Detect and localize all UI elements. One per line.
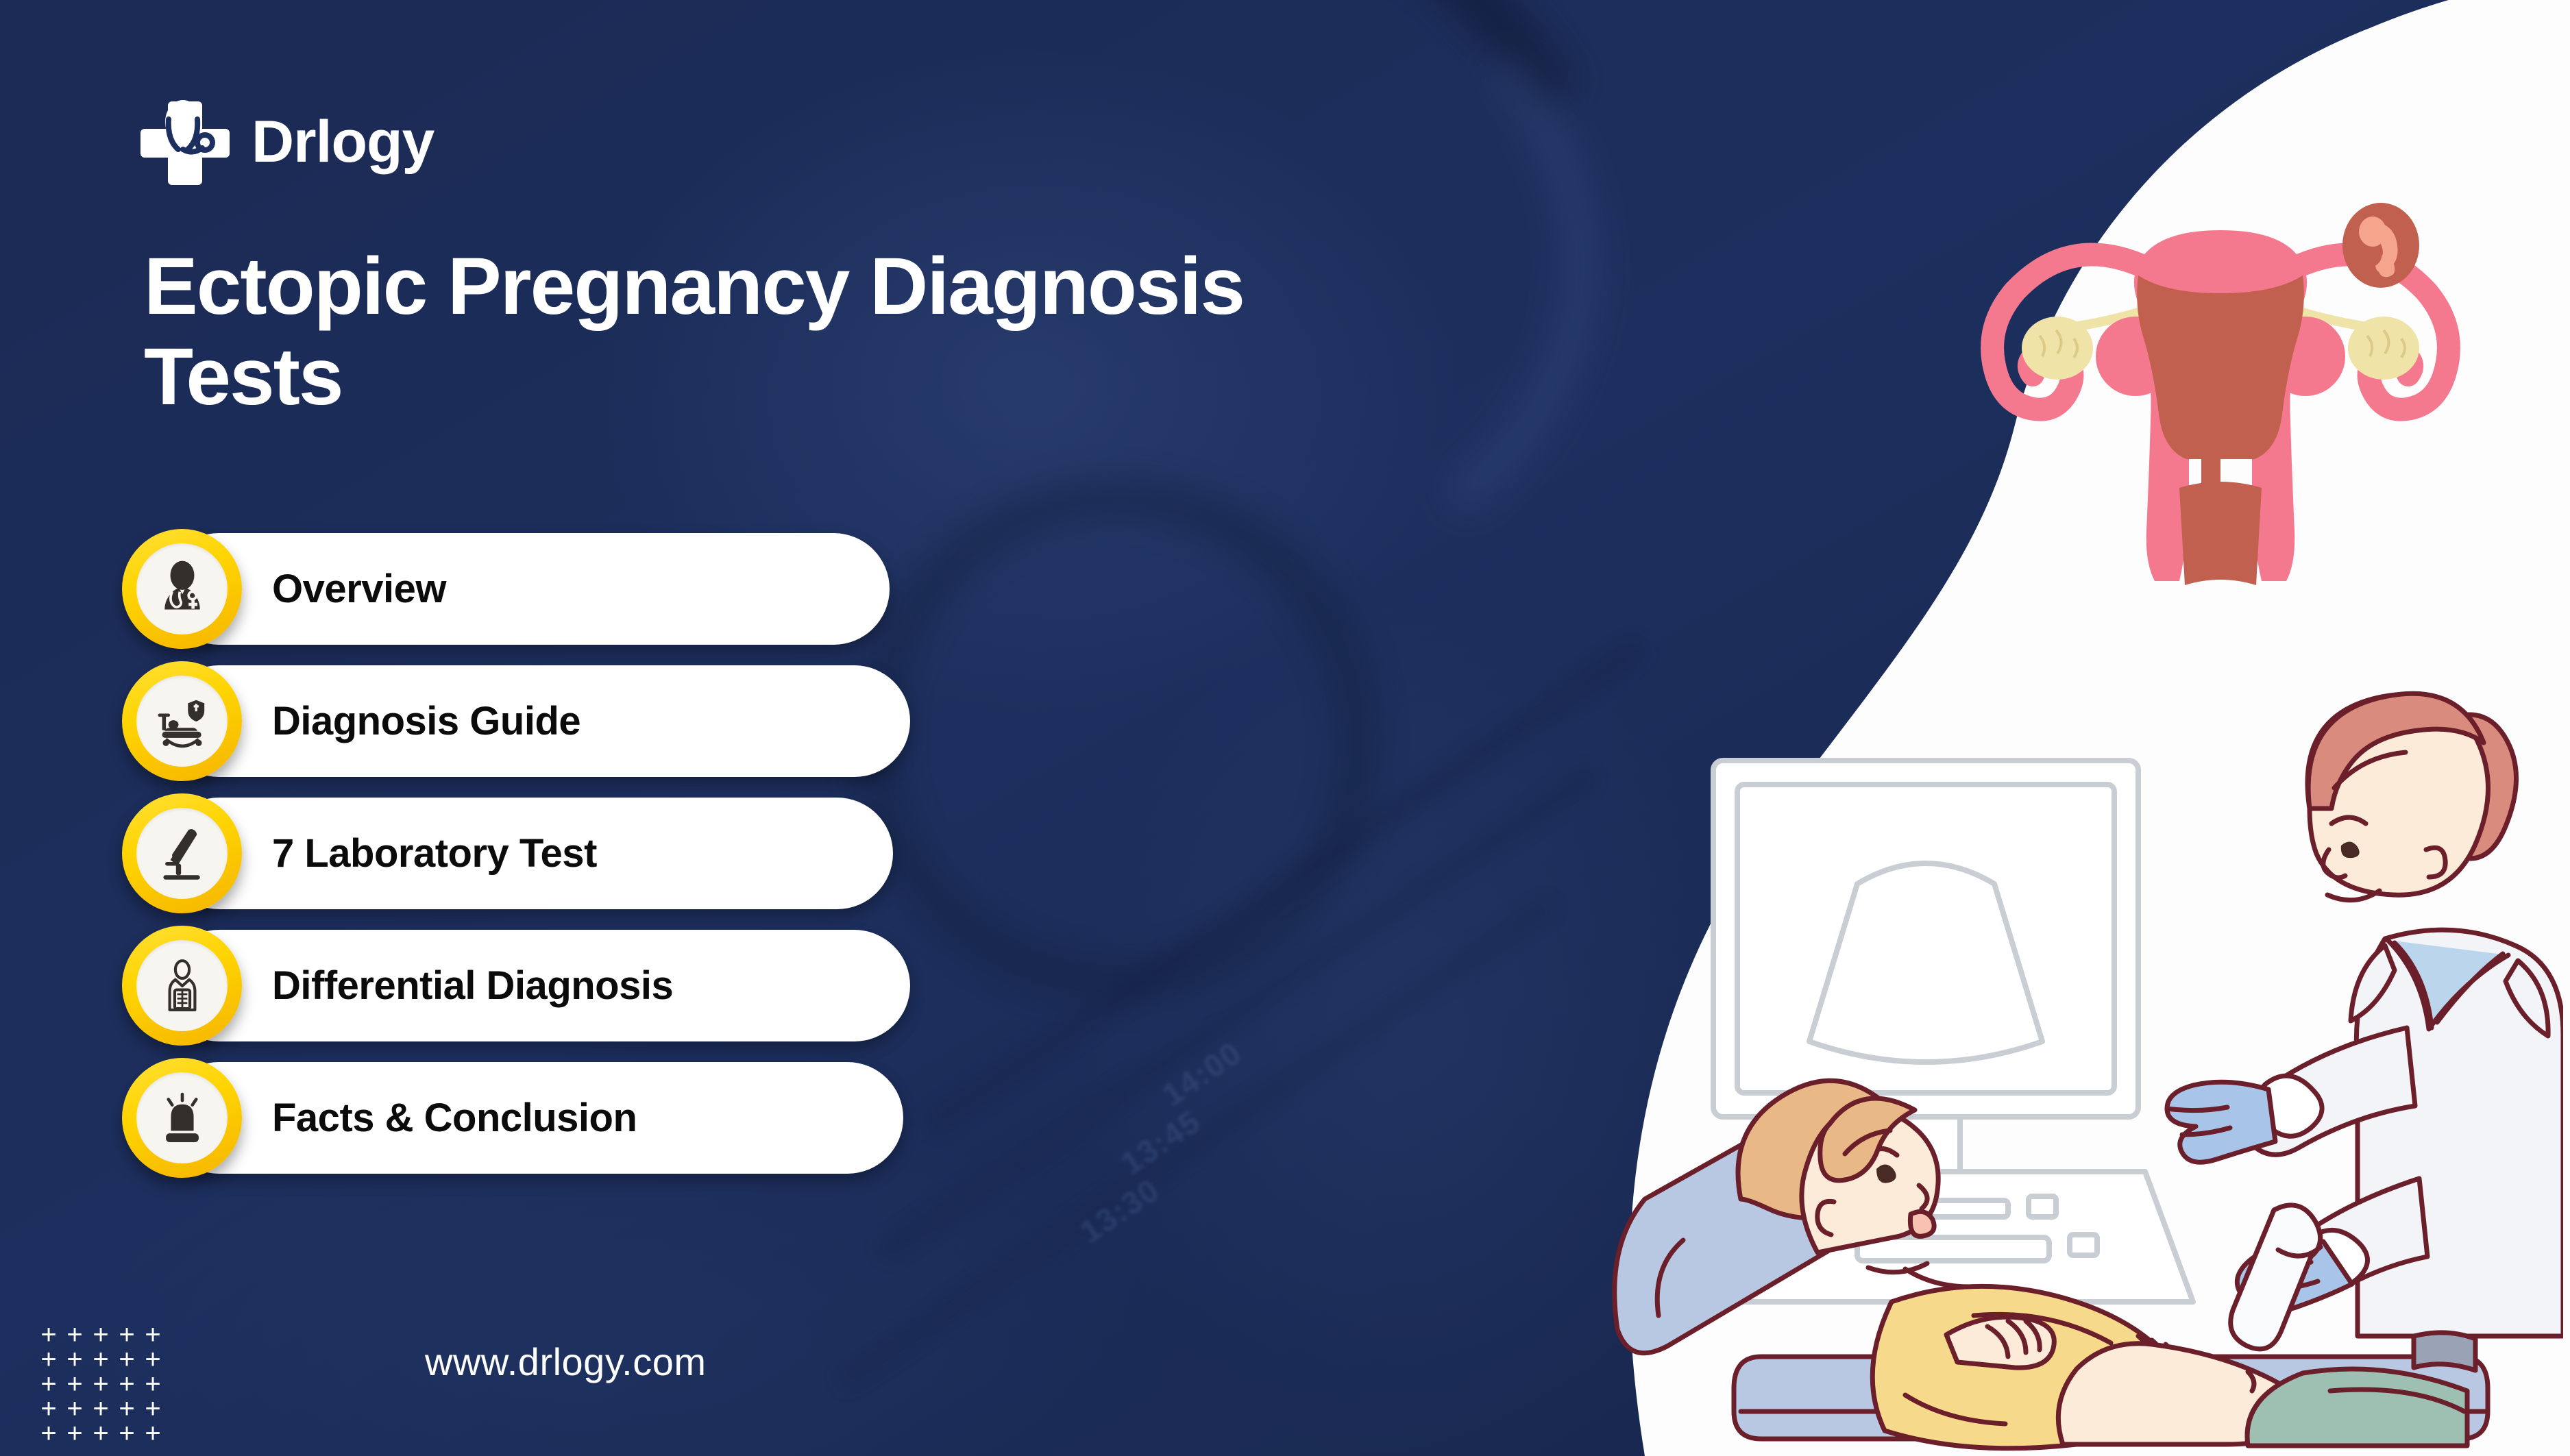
menu-icon-ring: [122, 926, 242, 1046]
menu-item-diagnosis-guide[interactable]: Diagnosis Guide: [122, 661, 673, 781]
menu-icon-ring: [122, 529, 242, 649]
menu-item-label: 7 Laboratory Test: [272, 830, 597, 876]
menu-item-label: Diagnosis Guide: [272, 698, 580, 744]
medical-cross-doctor-stethoscope-icon: [140, 97, 230, 186]
menu-icon-ring: [122, 1058, 242, 1178]
menu-list: Overview Diagnosis Guide: [122, 529, 673, 1178]
uterus-ectopic-pregnancy-diagram: [1974, 171, 2467, 610]
menu-item-label: Differential Diagnosis: [272, 963, 673, 1009]
xray-torso-scan-icon: [136, 940, 228, 1031]
menu-item-differential-diagnosis[interactable]: Differential Diagnosis: [122, 926, 673, 1046]
brand-name: Drlogy: [252, 112, 434, 171]
menu-item-overview[interactable]: Overview: [122, 529, 673, 649]
menu-item-facts-conclusion[interactable]: Facts & Conclusion: [122, 1058, 673, 1178]
doctor-ultrasound-examining-pregnant-patient: [1535, 644, 2563, 1456]
menu-icon-ring: [122, 661, 242, 781]
hospital-bed-patient-shield-icon: [136, 676, 228, 767]
website-url[interactable]: www.drlogy.com: [425, 1340, 707, 1384]
page-title: Ectopic Pregnancy Diagnosis Tests: [144, 241, 1823, 422]
menu-item-label: Facts & Conclusion: [272, 1095, 637, 1141]
menu-item-laboratory-test[interactable]: 7 Laboratory Test: [122, 793, 673, 913]
siren-alert-icon: [136, 1072, 228, 1163]
plus-dot-grid-icon: +++++ +++++ +++++ +++++ +++++: [36, 1322, 166, 1446]
microscope-icon: [136, 808, 228, 899]
page-title-line2: Tests: [144, 332, 343, 422]
menu-icon-ring: [122, 793, 242, 913]
brand-logo[interactable]: Drlogy: [140, 97, 434, 186]
menu-item-label: Overview: [272, 566, 446, 612]
page-title-line1: Ectopic Pregnancy Diagnosis: [144, 241, 1244, 332]
doctor-stethoscope-icon: [136, 543, 228, 634]
